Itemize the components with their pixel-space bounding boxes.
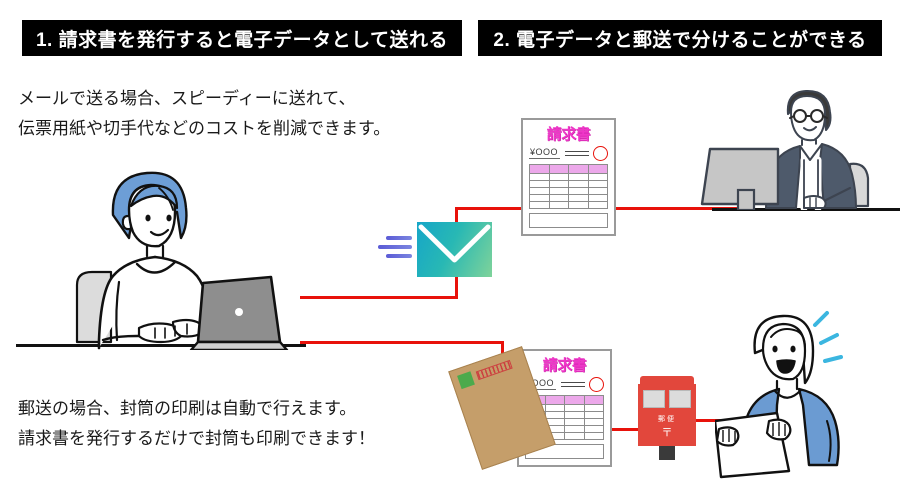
description-top-line-1: メールで送る場合、スピーディーに送れて、 [18,84,390,114]
envelope-flap-icon [417,222,492,277]
jacket-right [820,144,856,208]
mailbox-body: 郵便 〒 [638,384,696,446]
invoice-dashes-bottom [561,381,587,388]
excitement-lines-icon [815,313,841,361]
mailbox-post [659,446,675,460]
connector-laptop-to-envelope [300,341,504,344]
eye-right [166,215,171,222]
invoice-title-top: 請求書 [529,126,608,143]
description-bottom-line-2: 請求書を発行するだけで封筒も印刷できます！ [18,424,375,454]
glasses-right-lens [811,110,823,122]
section-header-2-label: 2. 電子データと郵送で分けることができる [493,25,866,52]
laptop [191,277,287,350]
japanese-mailbox-icon: 郵便 〒 [638,376,696,462]
invoice-document-top: 請求書 ¥OOO [521,118,616,236]
mailbox-slot-left [643,390,665,408]
man-at-monitor-illustration [700,86,900,210]
speed-lines-icon [378,236,412,266]
eye-left [772,346,777,353]
desktop-monitor [702,149,778,210]
invoice-subrow-top: ¥OOO [529,146,608,160]
infographic-canvas: 1. 請求書を発行すると電子データとして送れる 2. 電子データと郵送で分けるこ… [0,0,900,500]
sweater-right [799,389,839,465]
invoice-seal-icon-bottom [589,377,604,392]
postal-mark-icon: 〒 [638,424,696,440]
mailbox-slot-right [669,390,691,408]
laptop-logo-icon [235,308,243,316]
description-bottom-line-1: 郵送の場合、封筒の印刷は自動で行えます。 [18,394,375,424]
invoice-title-bottom: 請求書 [525,357,604,374]
email-envelope-icon [417,222,492,277]
invoice-amount-top: ¥OOO [529,147,560,159]
hand [804,196,826,208]
invoice-footer-box-top [529,213,608,228]
woman-typing-on-laptop-illustration [55,160,325,350]
section-header-1: 1. 請求書を発行すると電子データとして送れる [22,20,462,56]
section-header-2: 2. 電子データと郵送で分けることができる [478,20,882,56]
connector-mail-to-invoice [455,207,530,210]
section-header-1-label: 1. 請求書を発行すると電子データとして送れる [36,25,448,52]
laptop-base [191,342,287,350]
invoice-seal-icon-top [593,146,608,161]
monitor-stand [738,190,754,210]
mailbox-label: 郵便 [638,414,696,424]
eye-right [790,346,795,353]
glasses-left-lens [794,110,806,122]
eye-left [145,215,150,222]
invoice-table-top [529,164,608,209]
torso-right [155,257,207,316]
description-top-line-2: 伝票用紙や切手代などのコストを削減できます。 [18,114,390,144]
invoice-dashes-top [565,150,591,157]
description-text-bottom: 郵送の場合、封筒の印刷は自動で行えます。 請求書を発行するだけで封筒も印刷できま… [18,394,375,454]
woman-holding-document-illustration [715,305,895,480]
description-text-top: メールで送る場合、スピーディーに送れて、 伝票用紙や切手代などのコストを削減でき… [18,84,390,144]
